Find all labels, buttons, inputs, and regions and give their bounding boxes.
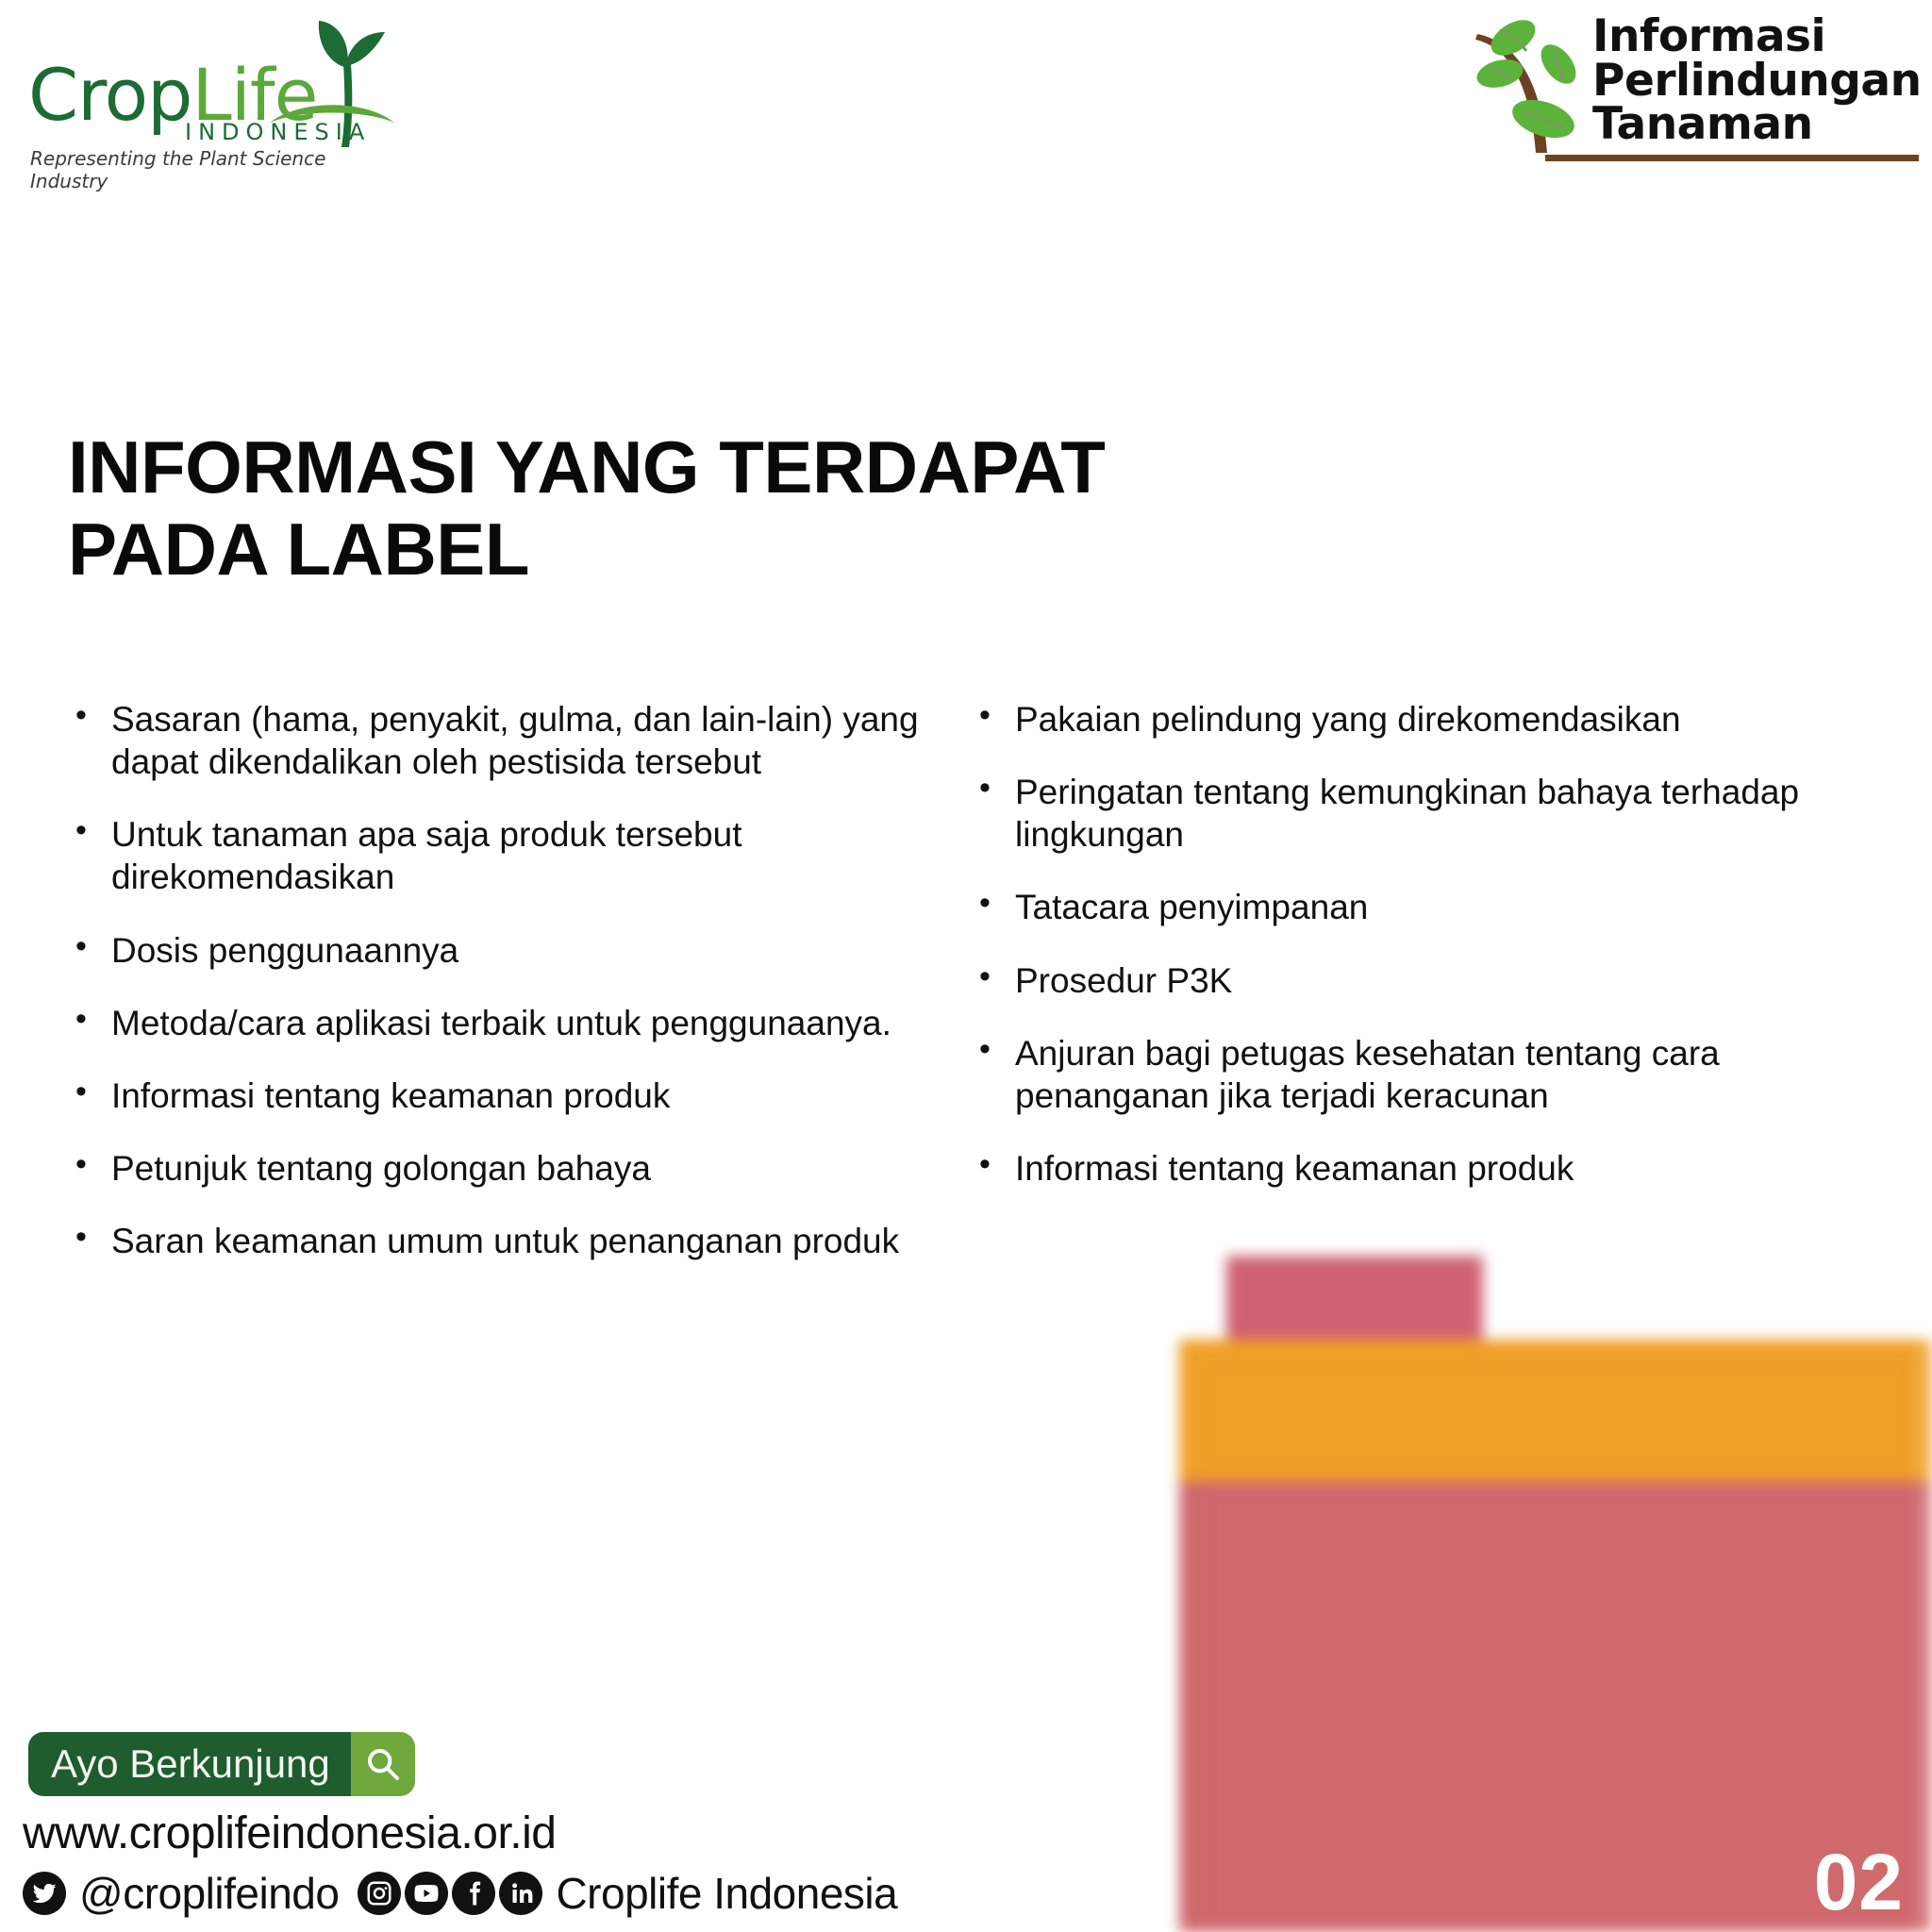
visit-badge[interactable]: Ayo Berkunjung (28, 1732, 415, 1796)
bottle-label-band (1179, 1340, 1932, 1481)
visit-badge-label: Ayo Berkunjung (28, 1732, 351, 1796)
bottle-label-border (1209, 1364, 1907, 1466)
bullet-column-left: Sasaran (hama, penyakit, gulma, dan lain… (68, 698, 936, 1292)
bullet-list-right: Pakaian pelindung yang direkomendasikan … (972, 698, 1915, 1190)
bullet-list-left: Sasaran (hama, penyakit, gulma, dan lain… (68, 698, 936, 1262)
ipt-line-2: Perlindungan (1592, 59, 1922, 104)
list-item: Anjuran bagi petugas kesehatan tentang c… (972, 1032, 1915, 1117)
website-url[interactable]: www.croplifeindonesia.or.id (23, 1807, 556, 1859)
list-item: Tatacara penyimpanan (972, 886, 1915, 928)
page-footer: Ayo Berkunjung www.croplifeindonesia.or.… (0, 1724, 1932, 1932)
list-item: Prosedur P3K (972, 959, 1915, 1002)
facebook-icon[interactable] (452, 1872, 495, 1915)
ipt-line-3: Tanaman (1592, 103, 1922, 147)
page-title: INFORMASI YANG TERDAPAT PADA LABEL (68, 426, 1294, 591)
list-item: Dosis penggunaannya (68, 929, 936, 972)
bullet-column-right: Pakaian pelindung yang direkomendasikan … (972, 698, 1915, 1220)
linkedin-icon[interactable] (499, 1872, 542, 1915)
croplife-word-crop: Crop (28, 53, 192, 137)
social-row: @croplifeindo Croplife Indonesia (23, 1868, 897, 1919)
list-item: Sasaran (hama, penyakit, gulma, dan lain… (68, 698, 936, 783)
social-icon-cluster (358, 1872, 542, 1915)
list-item: Informasi tentang keamanan produk (972, 1147, 1915, 1190)
page-header: CropLife INDONESIA Representing the Plan… (0, 0, 1932, 179)
croplife-logo: CropLife INDONESIA Representing the Plan… (17, 8, 394, 168)
ipt-line-1: Informasi (1592, 15, 1922, 59)
ipt-logo: Informasi Perlindungan Tanaman (1472, 6, 1924, 161)
instagram-icon[interactable] (358, 1872, 401, 1915)
list-item: Saran keamanan umum untuk penanganan pro… (68, 1220, 936, 1262)
list-item: Petunjuk tentang golongan bahaya (68, 1147, 936, 1190)
ipt-underline (1545, 155, 1919, 161)
slide-page: CropLife INDONESIA Representing the Plan… (0, 0, 1932, 1932)
search-icon[interactable] (351, 1732, 415, 1796)
list-item: Untuk tanaman apa saja produk tersebut d… (68, 813, 936, 898)
list-item: Peringatan tentang kemungkinan bahaya te… (972, 771, 1915, 856)
list-item: Metoda/cara aplikasi terbaik untuk pengg… (68, 1002, 936, 1044)
brand-name: Croplife Indonesia (556, 1868, 897, 1919)
sprout-icon (264, 9, 396, 151)
twitter-handle[interactable]: @croplifeindo (79, 1868, 339, 1919)
youtube-icon[interactable] (405, 1872, 448, 1915)
list-item: Pakaian pelindung yang direkomendasikan (972, 698, 1915, 741)
twitter-icon[interactable] (23, 1872, 66, 1915)
bottle-cap (1226, 1255, 1483, 1341)
ipt-logo-text: Informasi Perlindungan Tanaman (1592, 15, 1922, 147)
page-number: 02 (1814, 1837, 1904, 1928)
croplife-tagline: Representing the Plant Science Industry (30, 147, 394, 192)
list-item: Informasi tentang keamanan produk (68, 1074, 936, 1117)
